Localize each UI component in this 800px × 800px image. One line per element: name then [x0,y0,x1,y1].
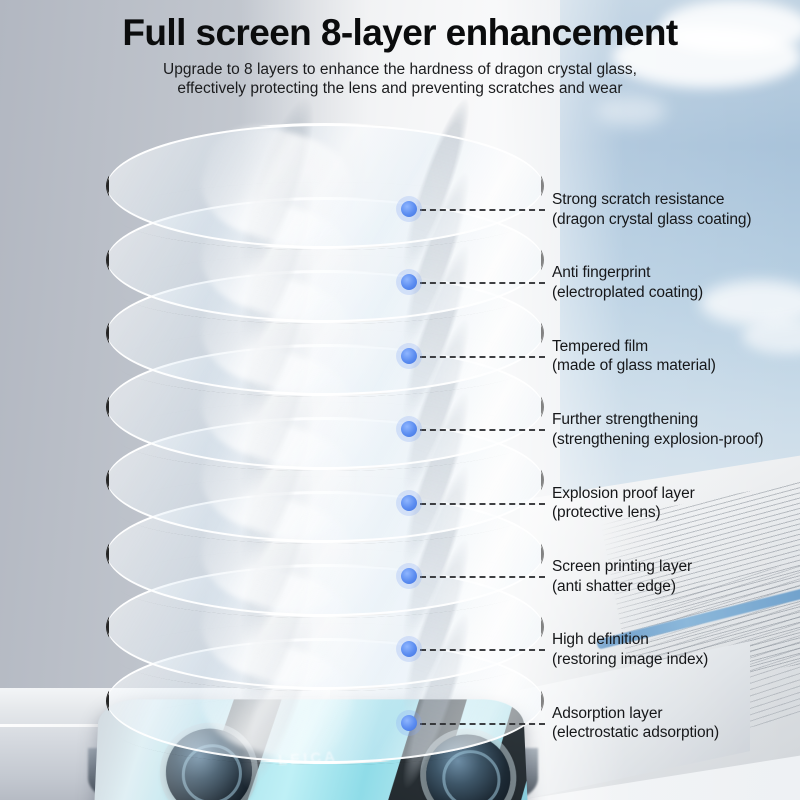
callout-label-layer-4: Further strengthening(strengthening expl… [552,410,763,449]
layer-name: Explosion proof layer [552,484,695,504]
page-subtitle-line-2: effectively protecting the lens and prev… [0,79,800,98]
callout-leader-line-layer-1 [420,209,545,211]
infographic-canvas: LEICA Strong scratch resistance(dragon c… [0,0,800,800]
glass-disc-shadow-arc [116,623,535,691]
page-title: Full screen 8-layer enhancement [0,12,800,54]
glass-layer-stack [0,0,800,800]
callout-label-layer-2: Anti fingerprint(electroplated coating) [552,263,703,302]
glass-disc-shadow-arc [116,476,535,544]
callout-dot-layer-6[interactable] [401,568,417,584]
callout-label-layer-8: Adsorption layer(electrostatic adsorptio… [552,704,719,743]
layer-detail: (protective lens) [552,503,695,523]
callout-leader-line-layer-8 [420,723,545,725]
callout-leader-line-layer-5 [420,503,545,505]
layer-name: Adsorption layer [552,704,719,724]
glass-disc-shadow-arc [116,402,535,470]
callout-leader-line-layer-6 [420,576,545,578]
glass-disc-shadow-arc [116,329,535,397]
callout-leader-line-layer-3 [420,356,545,358]
page-subtitle: Upgrade to 8 layers to enhance the hardn… [0,60,800,98]
glass-disc-shadow-arc [116,549,535,617]
glass-disc-shadow-arc [116,696,535,764]
callout-label-layer-5: Explosion proof layer(protective lens) [552,484,695,523]
layer-detail: (dragon crystal glass coating) [552,210,751,230]
layer-detail: (restoring image index) [552,650,708,670]
callout-label-layer-7: High definition(restoring image index) [552,630,708,669]
callout-label-layer-6: Screen printing layer(anti shatter edge) [552,557,692,596]
layer-name: High definition [552,630,708,650]
callout-label-layer-3: Tempered film(made of glass material) [552,337,716,376]
callout-leader-line-layer-7 [420,649,545,651]
layer-detail: (anti shatter edge) [552,577,692,597]
callout-leader-line-layer-4 [420,429,545,431]
callout-dot-layer-5[interactable] [401,495,417,511]
layer-detail: (strengthening explosion-proof) [552,430,763,450]
layer-name: Anti fingerprint [552,263,703,283]
layer-detail: (made of glass material) [552,356,716,376]
callout-dot-layer-8[interactable] [401,715,417,731]
glass-disc-shadow-arc [116,255,535,323]
page-subtitle-line-1: Upgrade to 8 layers to enhance the hardn… [0,60,800,79]
layer-detail: (electroplated coating) [552,283,703,303]
callout-dot-layer-3[interactable] [401,348,417,364]
glass-disc-shadow-arc [116,182,535,250]
glass-disc-layer-1 [107,124,543,248]
layer-name: Tempered film [552,337,716,357]
layer-name: Further strengthening [552,410,763,430]
callout-label-layer-1: Strong scratch resistance(dragon crystal… [552,190,751,229]
callout-leader-line-layer-2 [420,282,545,284]
layer-name: Screen printing layer [552,557,692,577]
layer-name: Strong scratch resistance [552,190,751,210]
callout-dot-layer-1[interactable] [401,201,417,217]
layer-detail: (electrostatic adsorption) [552,723,719,743]
